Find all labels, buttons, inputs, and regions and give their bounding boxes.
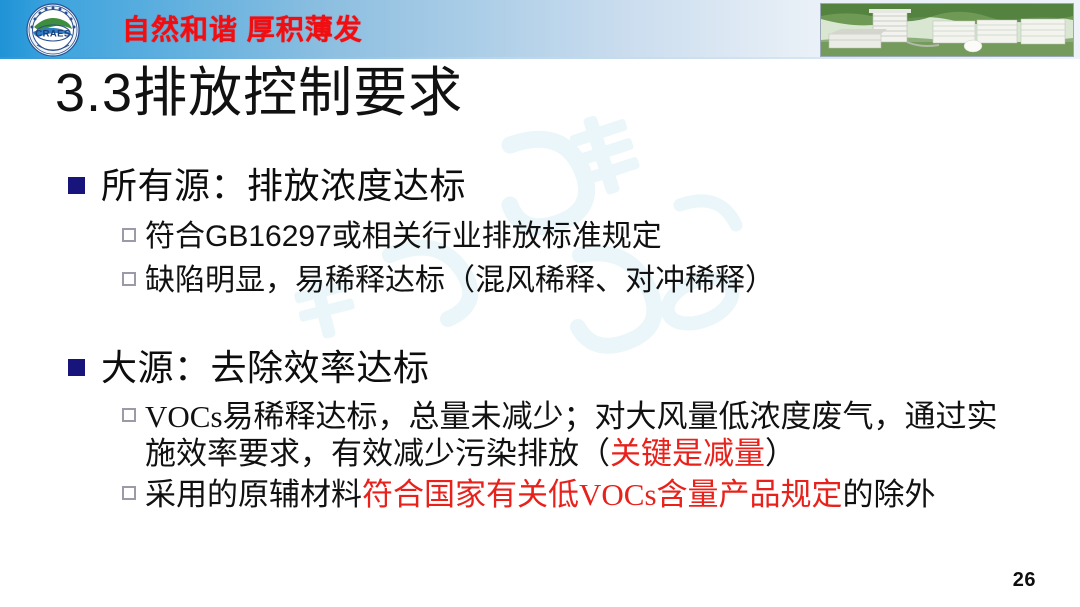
bullet-level2-label: VOCs易稀释达标，总量未减少；对大风量低浓度废气，通过实施效率要求，有效减少污…	[145, 398, 1012, 472]
hollow-square-bullet-icon	[122, 272, 136, 286]
bullet-level2-gb16297: 符合GB16297或相关行业排放标准规定	[122, 218, 662, 256]
slide-canvas: CRAES 自然和谐 厚积薄发	[0, 0, 1080, 607]
bullet-level2-label: 缺陷明显，易稀释达标（混风稀释、对冲稀释）	[145, 262, 775, 300]
bullet-level2-label: 采用的原辅材料符合国家有关低VOCs含量产品规定的除外	[145, 476, 936, 513]
bullet-level1-label: 所有源：排放浓度达标	[101, 163, 466, 209]
svg-text:CRAES: CRAES	[35, 29, 70, 40]
bullet-level1-large-sources: 大源：去除效率达标	[68, 345, 430, 391]
page-title: 3.3排放控制要求	[55, 58, 463, 128]
square-bullet-icon	[68, 359, 85, 376]
text-segment-plain: 采用的原辅材料	[145, 477, 362, 512]
page-number: 26	[1013, 569, 1036, 592]
hollow-square-bullet-icon	[122, 228, 136, 242]
text-segment-highlight: 关键是减量	[610, 436, 765, 471]
bullet-level2-dilution-defect: 缺陷明显，易稀释达标（混风稀释、对冲稀释）	[122, 262, 775, 300]
bullet-level1-all-sources: 所有源：排放浓度达标	[68, 163, 466, 209]
bullet-level2-raw-materials: 采用的原辅材料符合国家有关低VOCs含量产品规定的除外	[122, 476, 1012, 513]
square-bullet-icon	[68, 177, 85, 194]
text-segment-plain: 的除外	[843, 477, 936, 512]
bullet-level2-label: 符合GB16297或相关行业排放标准规定	[145, 218, 662, 256]
hollow-square-bullet-icon	[122, 486, 136, 500]
hollow-square-bullet-icon	[122, 408, 136, 422]
text-segment-highlight: 符合国家有关低VOCs含量产品规定	[362, 477, 843, 512]
bullet-level2-vocs-efficiency: VOCs易稀释达标，总量未减少；对大风量低浓度废气，通过实施效率要求，有效减少污…	[122, 398, 1012, 472]
text-segment-plain: ）	[765, 436, 796, 471]
craes-logo-icon: CRAES	[26, 3, 80, 57]
header-slogan: 自然和谐 厚积薄发	[122, 14, 363, 46]
text-segment-plain: VOCs易稀释达标，总量未减少；对大风量低浓度废气，通过实施效率要求，有效减少污…	[145, 399, 998, 471]
bullet-level1-label: 大源：去除效率达标	[101, 345, 430, 391]
aerial-campus-photo-icon	[820, 3, 1074, 57]
